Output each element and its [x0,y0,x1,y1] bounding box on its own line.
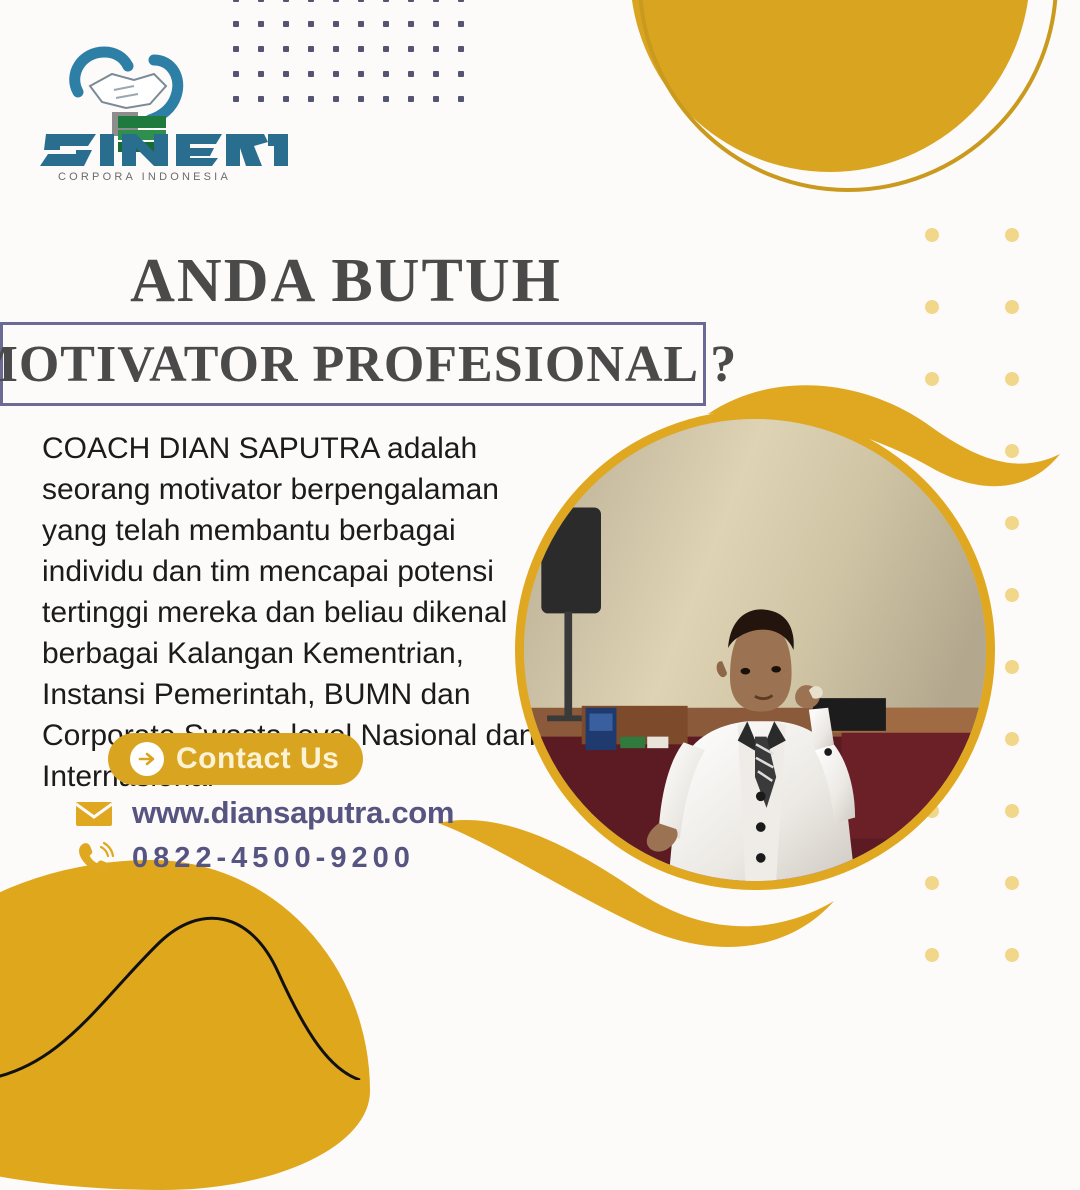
phone-icon [72,840,116,876]
website-text: www.diansaputra.com [132,795,454,831]
contact-us-label: Contact Us [176,742,339,776]
bottom-arc-line [0,880,420,1080]
headline-secondary: MOTIVATOR PROFESIONAL ? [0,335,737,394]
dot-column-outer [1005,228,1019,1020]
logo-wordmark [40,134,288,166]
top-right-circle-outline [638,0,1058,192]
phone-row[interactable]: 0822-4500-9200 [72,840,415,876]
brand-logo: CORPORA INDONESIA [30,34,290,184]
top-right-gold-circle [630,0,1030,172]
headline-primary: ANDA BUTUH [0,250,706,312]
contact-us-button[interactable]: Contact Us [108,733,363,785]
speaker-photo-frame [515,410,995,890]
bottom-left-gold-blob [0,860,370,1190]
headline-block: ANDA BUTUH MOTIVATOR PROFESIONAL ? [0,250,706,406]
arrow-right-circle-icon [130,742,164,776]
envelope-icon [72,795,116,831]
speaker-photo [524,419,986,881]
headline-box: MOTIVATOR PROFESIONAL ? [0,322,706,406]
phone-number-text: 0822-4500-9200 [132,842,415,875]
website-row[interactable]: www.diansaputra.com [72,795,454,831]
logo-tagline-text: CORPORA INDONESIA [58,171,231,183]
